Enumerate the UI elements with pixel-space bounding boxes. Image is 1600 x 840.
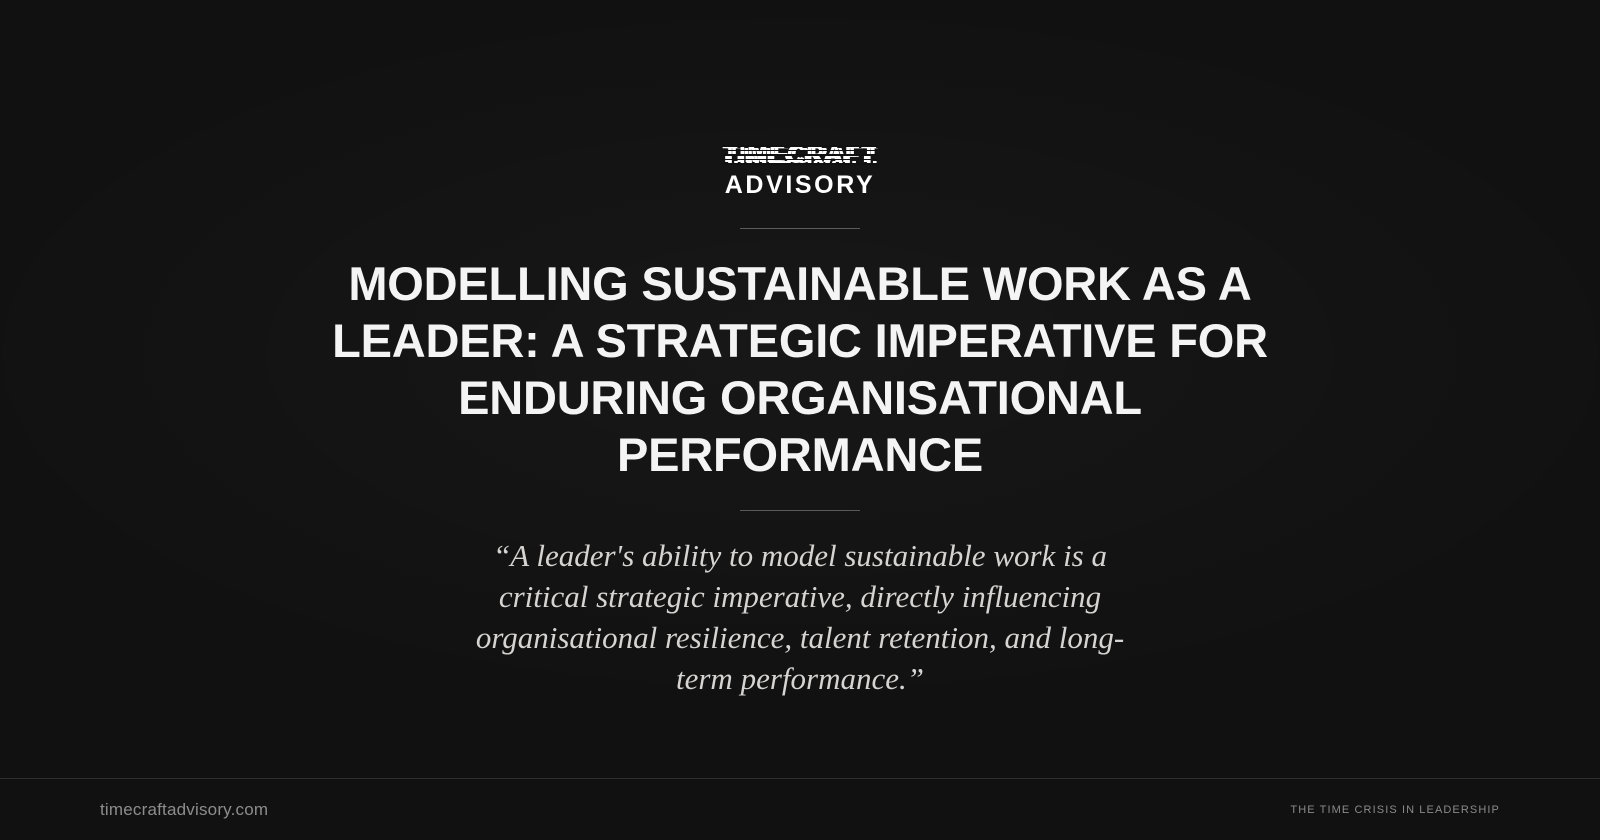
pull-quote: “A leader's ability to model sustainable… <box>450 535 1150 699</box>
divider-below-logo <box>740 228 860 229</box>
divider-below-title <box>740 510 860 511</box>
brand-logo: TIMECRAFT TIMECRAFT TIMECRAFT TIMECRAFT … <box>722 142 877 198</box>
logo-wordmark-primary: TIMECRAFT TIMECRAFT TIMECRAFT TIMECRAFT <box>722 142 877 168</box>
footer-deck-title: THE TIME CRISIS IN LEADERSHIP <box>1290 804 1500 816</box>
logo-line-2: ADVISORY <box>725 172 875 198</box>
title-slide: TIMECRAFT TIMECRAFT TIMECRAFT TIMECRAFT … <box>0 0 1600 840</box>
logo-line-1: TIMECRAFT <box>722 142 877 168</box>
slide-content: TIMECRAFT TIMECRAFT TIMECRAFT TIMECRAFT … <box>0 0 1600 699</box>
slide-footer: timecraftadvisory.com THE TIME CRISIS IN… <box>0 778 1600 840</box>
page-title: MODELLING SUSTAINABLE WORK AS A LEADER: … <box>300 255 1300 483</box>
footer-website: timecraftadvisory.com <box>100 800 268 820</box>
